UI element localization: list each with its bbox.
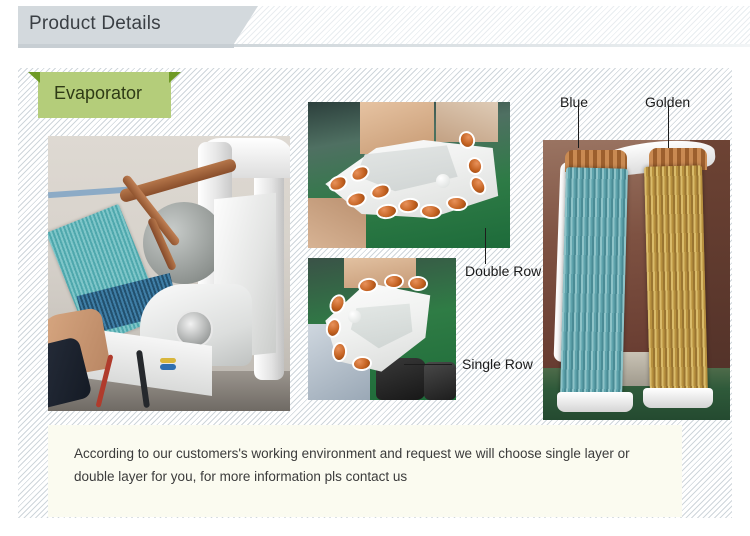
callout-golden: Golden <box>645 94 690 110</box>
photo-indoor-unit-open <box>48 136 290 411</box>
double-row-leader-line <box>485 228 486 264</box>
golden-leader-line <box>668 106 669 148</box>
product-details-page: Product Details Evaporator <box>0 0 750 536</box>
photo-blue-and-golden-coils <box>543 140 730 420</box>
golden-coil-base <box>643 388 713 408</box>
yellow-wire <box>160 358 176 363</box>
note-box: According to our customers's working env… <box>48 425 682 517</box>
single-row-leader-line <box>404 364 452 365</box>
page-title: Product Details <box>29 13 161 35</box>
worker-shoe-2 <box>424 362 456 400</box>
blue-leader-line <box>578 106 579 148</box>
white-knob <box>348 310 361 323</box>
header-stripe-band <box>232 6 750 46</box>
worker-hand <box>344 258 416 288</box>
golden-finned-coil <box>644 165 708 396</box>
section-title: Evaporator <box>54 83 142 104</box>
callout-blue: Blue <box>560 94 588 110</box>
blue-wire <box>160 364 176 370</box>
photo-double-row-endcap <box>308 102 510 248</box>
callout-double-row: Double Row <box>465 263 541 279</box>
callout-single-row: Single Row <box>462 356 533 372</box>
blue-finned-coil <box>560 167 628 401</box>
header-title-bar-underline <box>18 44 234 48</box>
blue-coil-base <box>557 392 633 412</box>
header-stripe-shadow <box>232 44 750 47</box>
note-text: According to our customers's working env… <box>74 442 664 488</box>
white-knob <box>436 174 450 188</box>
section-ribbon-evaporator: Evaporator <box>38 72 171 118</box>
photo-single-row-endcap <box>308 258 456 400</box>
page-header: Product Details <box>0 0 750 55</box>
